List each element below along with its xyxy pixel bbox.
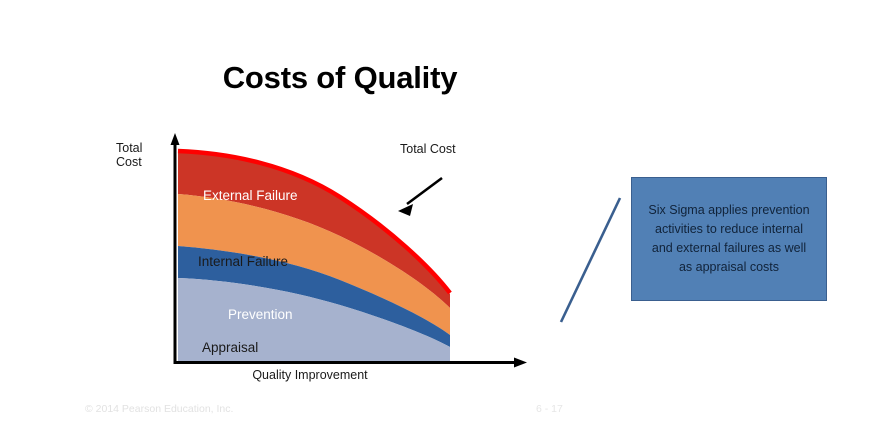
x-axis-label: Quality Improvement [190, 368, 430, 382]
total-cost-arrow-shaft [407, 178, 442, 204]
costs-of-quality-chart: Total Cost Quality Improvement External … [100, 128, 560, 388]
six-sigma-callout-text: Six Sigma applies prevention activities … [645, 201, 813, 277]
area-label-appraisal: Appraisal [202, 340, 258, 355]
page-title: Costs of Quality [0, 60, 680, 96]
total-cost-arrow-head [398, 204, 413, 216]
footer-page-number: 6 - 17 [536, 403, 563, 415]
area-label-external-failure: External Failure [203, 188, 298, 203]
six-sigma-callout-box: Six Sigma applies prevention activities … [631, 177, 827, 301]
total-cost-annotation-label: Total Cost [400, 142, 456, 156]
footer-copyright: © 2014 Pearson Education, Inc. [85, 403, 233, 415]
x-axis-arrowhead [514, 358, 527, 368]
callout-connector-line [552, 190, 632, 330]
slide-canvas: Costs of Quality Total Cost Qualit [0, 0, 873, 437]
area-label-prevention: Prevention [228, 307, 293, 322]
y-axis-label: Total Cost [116, 141, 174, 169]
area-label-internal-failure: Internal Failure [198, 254, 288, 269]
